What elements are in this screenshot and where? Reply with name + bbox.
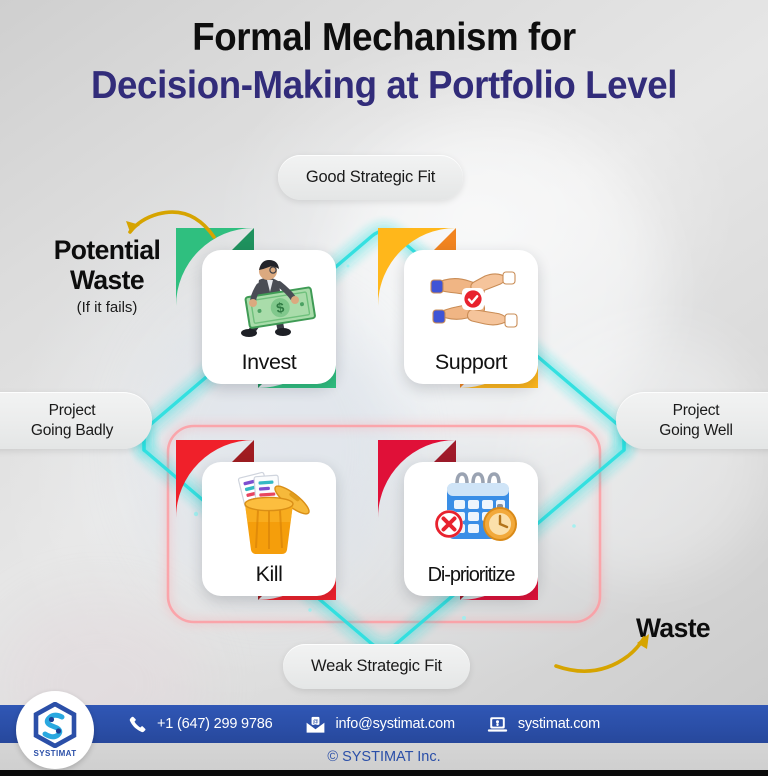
systimat-hex-s-icon: [31, 702, 79, 748]
calendar-cancel-stopwatch-icon: [404, 470, 538, 554]
infographic-poster: Formal Mechanism for Decision-Making at …: [0, 0, 768, 776]
title-line-1: Formal Mechanism for: [23, 16, 745, 60]
card-body-deprioritize[interactable]: Di-prioritize: [404, 462, 538, 596]
callout-potential-waste: Potential Waste (If it fails): [18, 236, 196, 316]
brand-logo-name: SYSTIMAT: [33, 749, 76, 758]
card-label: Kill: [256, 564, 283, 590]
card-body-invest[interactable]: $ Invest: [202, 250, 336, 384]
envelope-icon: @: [303, 713, 329, 735]
callout-note: (If it fails): [18, 299, 196, 316]
quadrant-card-invest[interactable]: $ Invest: [176, 228, 336, 388]
helping-hands-teamwork-icon: [404, 258, 538, 342]
callout-title-line1: Potential: [18, 236, 196, 266]
footer-email-text: info@systimat.com: [336, 716, 455, 732]
page-title: Formal Mechanism for Decision-Making at …: [0, 16, 768, 112]
card-body-kill[interactable]: Kill: [202, 462, 336, 596]
footer-website[interactable]: systimat.com: [485, 713, 600, 735]
axis-label-weak-strategic-fit: Weak Strategic Fit: [283, 644, 470, 689]
footer-phone-text: +1 (647) 299 9786: [157, 716, 273, 732]
bottom-strip: [0, 770, 768, 776]
footer-website-text: systimat.com: [518, 716, 600, 732]
card-label: Invest: [242, 352, 297, 378]
callout-title-line2: Waste: [18, 266, 196, 296]
footer-email[interactable]: @ info@systimat.com: [303, 713, 455, 735]
card-label: Di-prioritize: [428, 565, 515, 589]
axis-label-text-line1: Project: [673, 401, 720, 421]
card-label: Support: [435, 352, 507, 378]
axis-label-project-going-badly: Project Going Badly: [0, 392, 152, 449]
brand-logo[interactable]: SYSTIMAT: [16, 691, 94, 769]
businessman-carrying-money-icon: $: [202, 258, 336, 342]
axis-label-good-strategic-fit: Good Strategic Fit: [278, 155, 463, 200]
footer-contact-bar: +1 (647) 299 9786 @ info@systimat.com: [0, 705, 768, 743]
callout-waste: Waste: [636, 613, 710, 644]
axis-label-text: Good Strategic Fit: [306, 168, 435, 187]
quadrant-card-support[interactable]: Support: [378, 228, 538, 388]
trash-bin-with-papers-icon: [202, 470, 336, 554]
axis-label-text: Weak Strategic Fit: [311, 657, 442, 676]
axis-label-project-going-well: Project Going Well: [616, 392, 768, 449]
copyright-text: © SYSTIMAT Inc.: [0, 743, 768, 770]
axis-label-text-line2: Going Well: [659, 421, 733, 441]
axis-label-text-line2: Going Badly: [31, 421, 113, 441]
footer-phone[interactable]: +1 (647) 299 9786: [124, 713, 273, 735]
title-line-2: Decision-Making at Portfolio Level: [23, 60, 745, 113]
laptop-icon: [485, 713, 511, 735]
quadrant-card-kill[interactable]: Kill: [176, 440, 336, 600]
phone-icon: [124, 713, 150, 735]
card-body-support[interactable]: Support: [404, 250, 538, 384]
axis-label-text-line1: Project: [49, 401, 96, 421]
svg-text:@: @: [313, 719, 319, 725]
quadrant-card-deprioritize[interactable]: Di-prioritize: [378, 440, 538, 600]
